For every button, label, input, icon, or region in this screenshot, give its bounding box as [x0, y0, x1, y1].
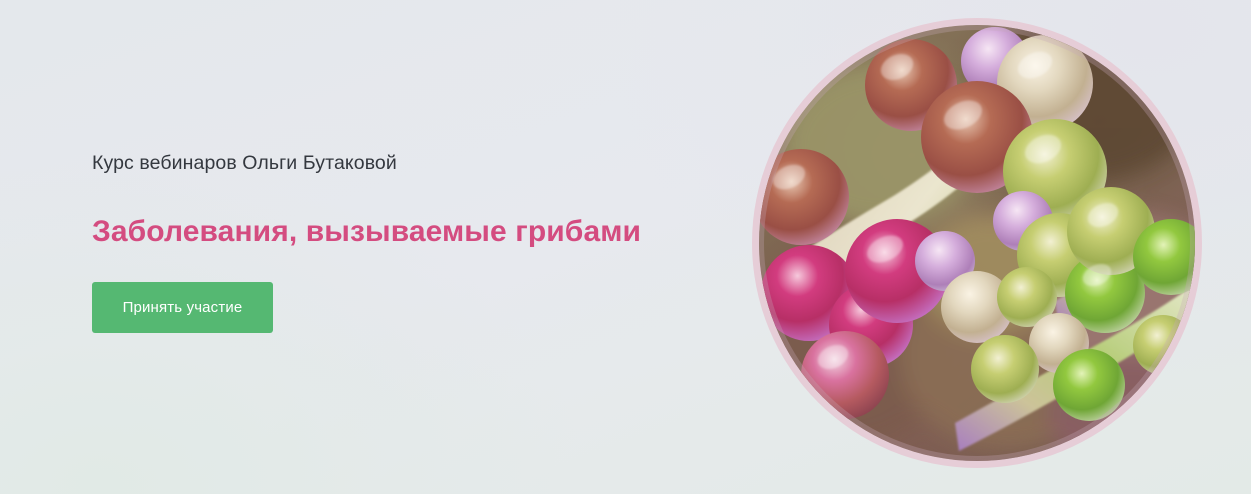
hero-copy: Курс вебинаров Ольги Бутаковой Заболеван…	[92, 150, 692, 333]
page-title: Заболевания, вызываемые грибами	[92, 176, 692, 251]
hero-media-circle	[752, 18, 1202, 468]
hero-media-image	[759, 25, 1195, 461]
cta-wrapper: Принять участие	[92, 251, 692, 333]
hero-eyebrow: Курс вебинаров Ольги Бутаковой	[92, 150, 692, 176]
hero-banner: Курс вебинаров Ольги Бутаковой Заболеван…	[0, 0, 1251, 494]
fungal-cells-illustration	[759, 25, 1195, 461]
join-button[interactable]: Принять участие	[92, 282, 273, 333]
